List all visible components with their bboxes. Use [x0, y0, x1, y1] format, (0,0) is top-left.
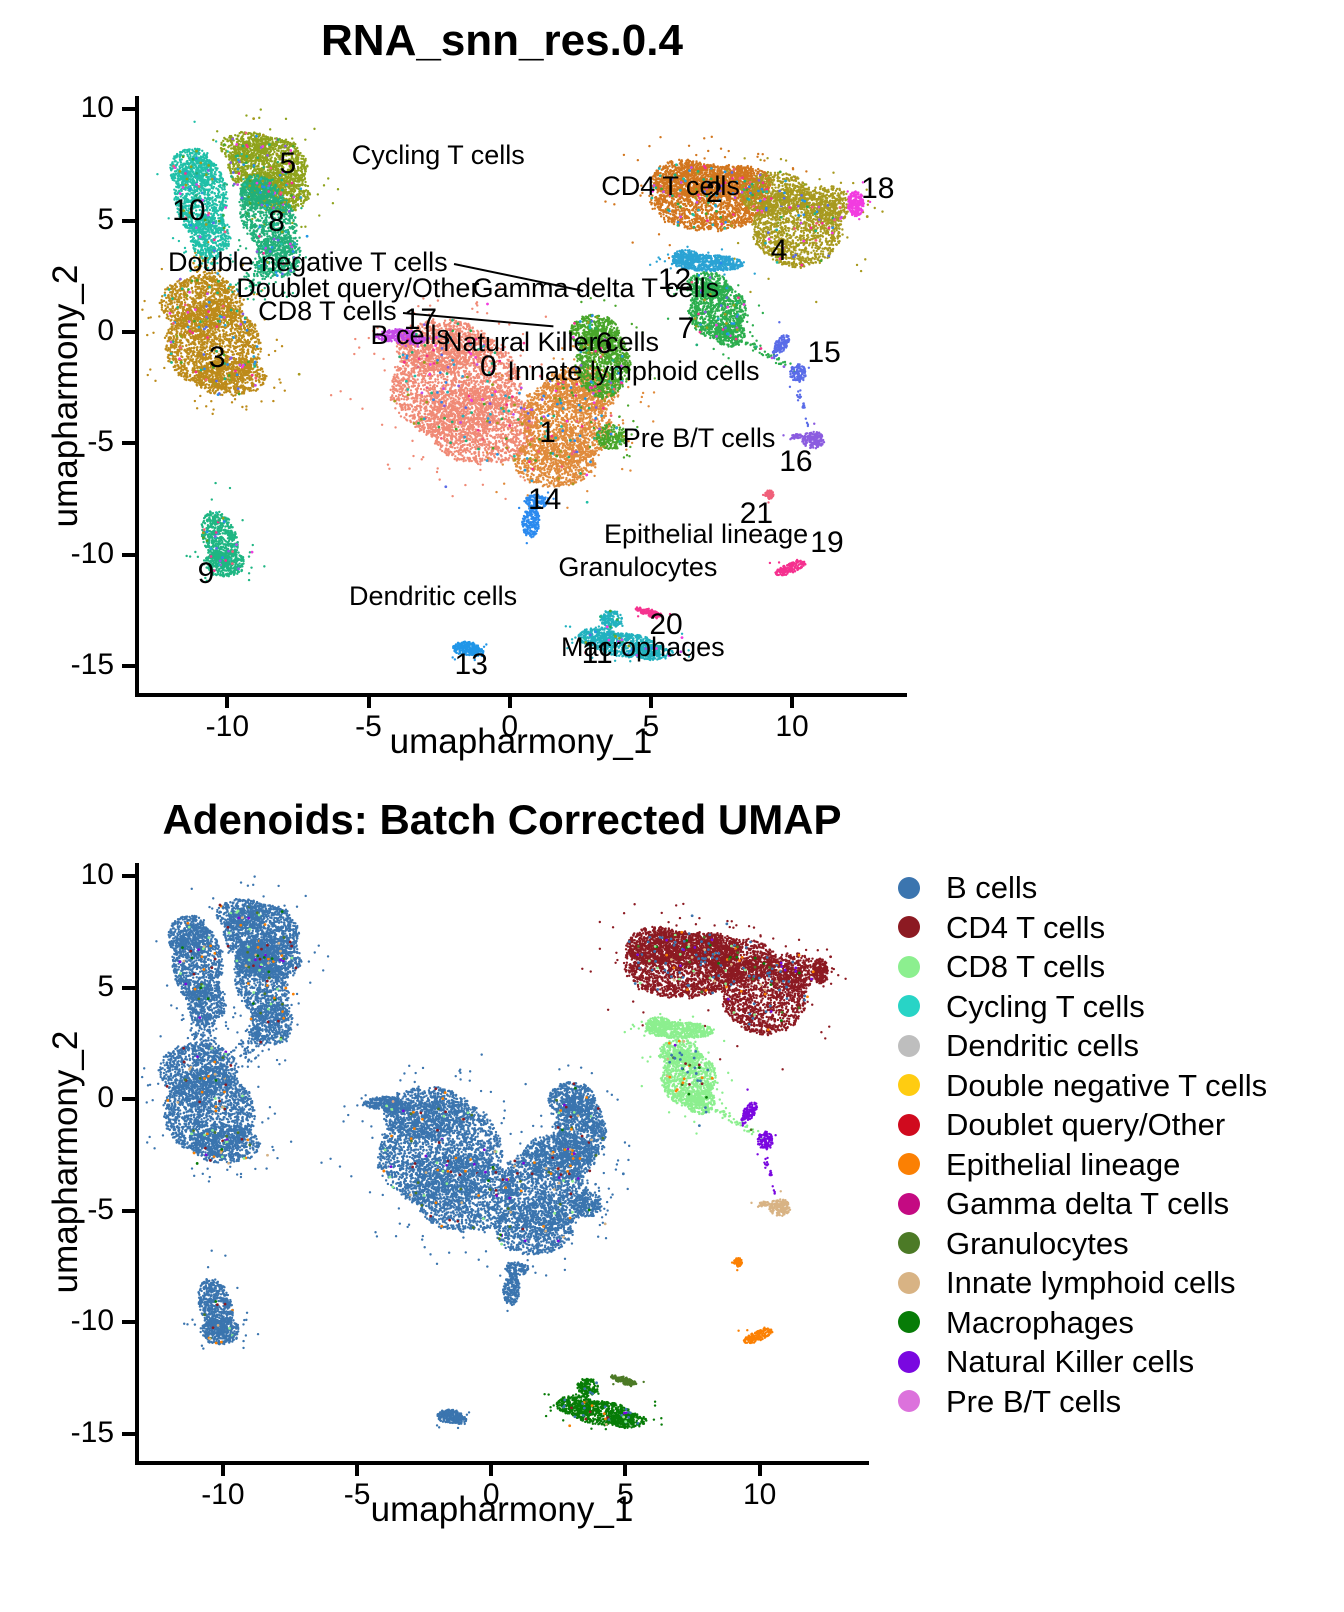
legend-item-label: Innate lymphoid cells [946, 1267, 1236, 1298]
bottom-x-axis-title: umapharmony_1 [137, 1490, 867, 1530]
legend-item-cd8-t-cells[interactable]: CD8 T cells [898, 947, 1267, 987]
y-tick [122, 330, 137, 334]
panel-top: RNA_snn_res.0.4 -10-505101050-5-10-15 um… [0, 0, 1344, 790]
legend-item-label: B cells [946, 872, 1037, 903]
x-tick [221, 1463, 225, 1476]
cluster-number-label: 1 [539, 418, 556, 448]
cluster-number-label: 15 [807, 338, 840, 368]
legend-item-label: Doublet query/Other [946, 1109, 1225, 1140]
legend-item-label: Pre B/T cells [946, 1386, 1121, 1417]
x-tick [758, 1463, 762, 1476]
legend-item-b-cells[interactable]: B cells [898, 868, 1267, 908]
x-tick [367, 695, 371, 708]
y-tick [122, 219, 137, 223]
y-tick [122, 553, 137, 557]
cluster-number-label: 13 [455, 650, 488, 680]
top-plot-title: RNA_snn_res.0.4 [137, 16, 867, 66]
legend-item-label: Macrophages [946, 1307, 1134, 1338]
celltype-annotation: Dendritic cells [349, 583, 517, 610]
y-tick [122, 1097, 137, 1101]
celltype-annotation: Macrophages [561, 634, 725, 661]
y-tick [122, 1320, 137, 1324]
legend-color-swatch-icon [898, 1272, 920, 1294]
celltype-legend: B cellsCD4 T cellsCD8 T cellsCycling T c… [898, 868, 1267, 1421]
x-tick [508, 695, 512, 708]
legend-item-cd4-t-cells[interactable]: CD4 T cells [898, 908, 1267, 948]
y-tick [122, 441, 137, 445]
cluster-number-label: 5 [279, 149, 296, 179]
legend-item-label: CD8 T cells [946, 951, 1105, 982]
celltype-annotation: Pre B/T cells [623, 425, 776, 452]
cluster-number-label: 7 [678, 314, 695, 344]
cluster-number-label: 10 [172, 196, 205, 226]
legend-color-swatch-icon [898, 1311, 920, 1333]
legend-item-granulocytes[interactable]: Granulocytes [898, 1224, 1267, 1264]
bottom-y-axis-spine [135, 863, 139, 1465]
celltype-annotation: Cycling T cells [352, 142, 525, 169]
cluster-number-label: 8 [268, 207, 285, 237]
panel-bottom: Adenoids: Batch Corrected UMAP -10-50510… [0, 790, 1344, 1612]
bottom-plot-title: Adenoids: Batch Corrected UMAP [137, 796, 867, 844]
legend-color-swatch-icon [898, 877, 920, 899]
legend-item-dendritic-cells[interactable]: Dendritic cells [898, 1026, 1267, 1066]
cluster-number-label: 3 [209, 343, 226, 373]
legend-color-swatch-icon [898, 1074, 920, 1096]
legend-color-swatch-icon [898, 1193, 920, 1215]
celltype-annotation: Granulocytes [558, 554, 717, 581]
celltype-annotation: Gamma delta T cells [472, 275, 719, 302]
legend-color-swatch-icon [898, 1232, 920, 1254]
celltype-annotation: Double negative T cells [168, 249, 454, 276]
legend-item-epithelial-lineage[interactable]: Epithelial lineage [898, 1145, 1267, 1185]
top-y-axis-title: umapharmony_2 [46, 96, 86, 696]
celltype-annotation: Natural Killer cells [443, 329, 659, 356]
x-tick [355, 1463, 359, 1476]
legend-item-cycling-t-cells[interactable]: Cycling T cells [898, 987, 1267, 1027]
x-tick [489, 1463, 493, 1476]
y-tick [122, 986, 137, 990]
cluster-number-label: 9 [198, 559, 215, 589]
x-tick [649, 695, 653, 708]
cluster-number-label: 18 [861, 174, 894, 204]
x-tick [225, 695, 229, 708]
legend-item-innate-lymphoid-cells[interactable]: Innate lymphoid cells [898, 1263, 1267, 1303]
x-tick [623, 1463, 627, 1476]
y-tick [122, 107, 137, 111]
celltype-annotation: Innate lymphoid cells [507, 358, 759, 385]
celltype-annotation: B cells [370, 322, 450, 349]
figure-root: RNA_snn_res.0.4 -10-505101050-5-10-15 um… [0, 0, 1344, 1612]
y-tick [122, 874, 137, 878]
cluster-number-label: 19 [810, 528, 843, 558]
legend-color-swatch-icon [898, 1351, 920, 1373]
legend-item-doublet-query-other[interactable]: Doublet query/Other [898, 1105, 1267, 1145]
legend-color-swatch-icon [898, 1153, 920, 1175]
celltype-annotation: Epithelial lineage [604, 521, 808, 548]
legend-color-swatch-icon [898, 995, 920, 1017]
y-tick [122, 1209, 137, 1213]
legend-color-swatch-icon [898, 1390, 920, 1412]
legend-item-label: CD4 T cells [946, 912, 1105, 943]
cluster-number-label: 14 [528, 485, 561, 515]
legend-item-label: Epithelial lineage [946, 1149, 1180, 1180]
celltype-annotation: CD4 T cells [601, 173, 740, 200]
legend-color-swatch-icon [898, 1035, 920, 1057]
cluster-number-label: 4 [771, 236, 788, 266]
legend-item-label: Cycling T cells [946, 991, 1145, 1022]
legend-item-label: Double negative T cells [946, 1070, 1267, 1101]
legend-color-swatch-icon [898, 1114, 920, 1136]
top-y-axis-spine [135, 96, 139, 697]
cluster-number-label: 16 [779, 447, 812, 477]
legend-item-double-negative-t-cells[interactable]: Double negative T cells [898, 1066, 1267, 1106]
legend-item-natural-killer-cells[interactable]: Natural Killer cells [898, 1342, 1267, 1382]
y-tick [122, 664, 137, 668]
legend-color-swatch-icon [898, 956, 920, 978]
legend-item-label: Natural Killer cells [946, 1346, 1194, 1377]
legend-color-swatch-icon [898, 916, 920, 938]
legend-item-label: Gamma delta T cells [946, 1188, 1229, 1219]
x-tick [790, 695, 794, 708]
bottom-y-axis-title: umapharmony_2 [46, 862, 86, 1462]
legend-item-pre-b-t-cells[interactable]: Pre B/T cells [898, 1382, 1267, 1422]
top-umap-scatter [137, 96, 905, 695]
legend-item-gamma-delta-t-cells[interactable]: Gamma delta T cells [898, 1184, 1267, 1224]
legend-item-macrophages[interactable]: Macrophages [898, 1303, 1267, 1343]
legend-item-label: Dendritic cells [946, 1030, 1139, 1061]
bottom-umap-scatter [137, 863, 867, 1463]
y-tick [122, 1432, 137, 1436]
top-x-axis-title: umapharmony_1 [137, 722, 905, 762]
legend-item-label: Granulocytes [946, 1228, 1129, 1259]
